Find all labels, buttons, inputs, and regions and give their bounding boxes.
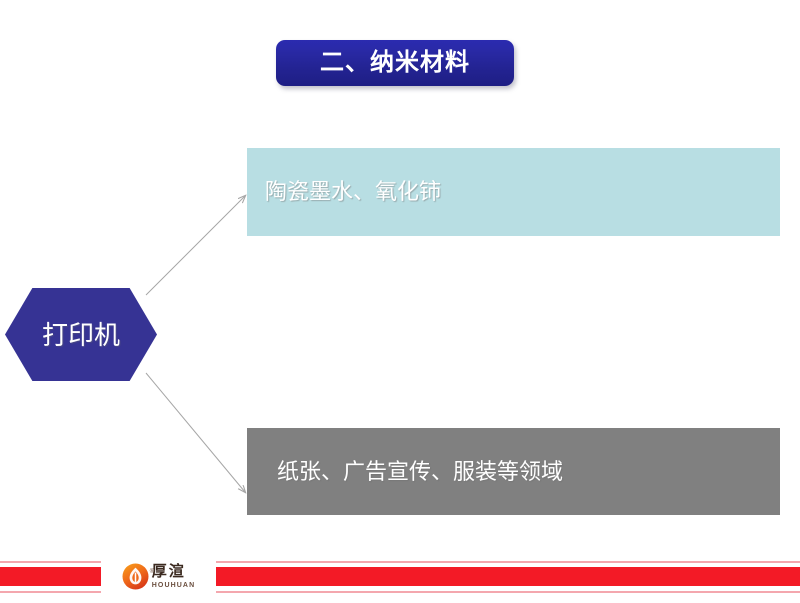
brand-name-en: HOUHUAN (152, 582, 195, 589)
flame-emblem-icon: ® (122, 563, 149, 590)
branch-box-materials: 陶瓷墨水、氧化铈 (247, 148, 780, 236)
brand-wordmark: 厚渲 HOUHUAN (152, 564, 195, 589)
connector-to-applications-icon (146, 373, 245, 492)
slide-canvas: 二、纳米材料 打印机 陶瓷墨水、氧化铈 纸张、广告宣传、服装等领域 (0, 0, 800, 603)
branch-box-applications: 纸张、广告宣传、服装等领域 (247, 428, 780, 515)
branch-box-materials-label: 陶瓷墨水、氧化铈 (247, 181, 441, 203)
source-node-label: 打印机 (42, 322, 120, 348)
slide-footer: ® 厚渲 HOUHUAN (0, 550, 800, 603)
brand-name-cn: 厚渲 (152, 564, 186, 579)
section-title-text: 二、纳米材料 (320, 51, 470, 75)
brand-logo: ® 厚渲 HOUHUAN (101, 550, 216, 603)
source-node-hexagon: 打印机 (5, 288, 157, 381)
connector-to-materials-icon (146, 196, 245, 295)
section-title-banner: 二、纳米材料 (276, 40, 514, 86)
registered-mark: ® (150, 569, 154, 575)
branch-box-applications-label: 纸张、广告宣传、服装等领域 (247, 461, 563, 483)
